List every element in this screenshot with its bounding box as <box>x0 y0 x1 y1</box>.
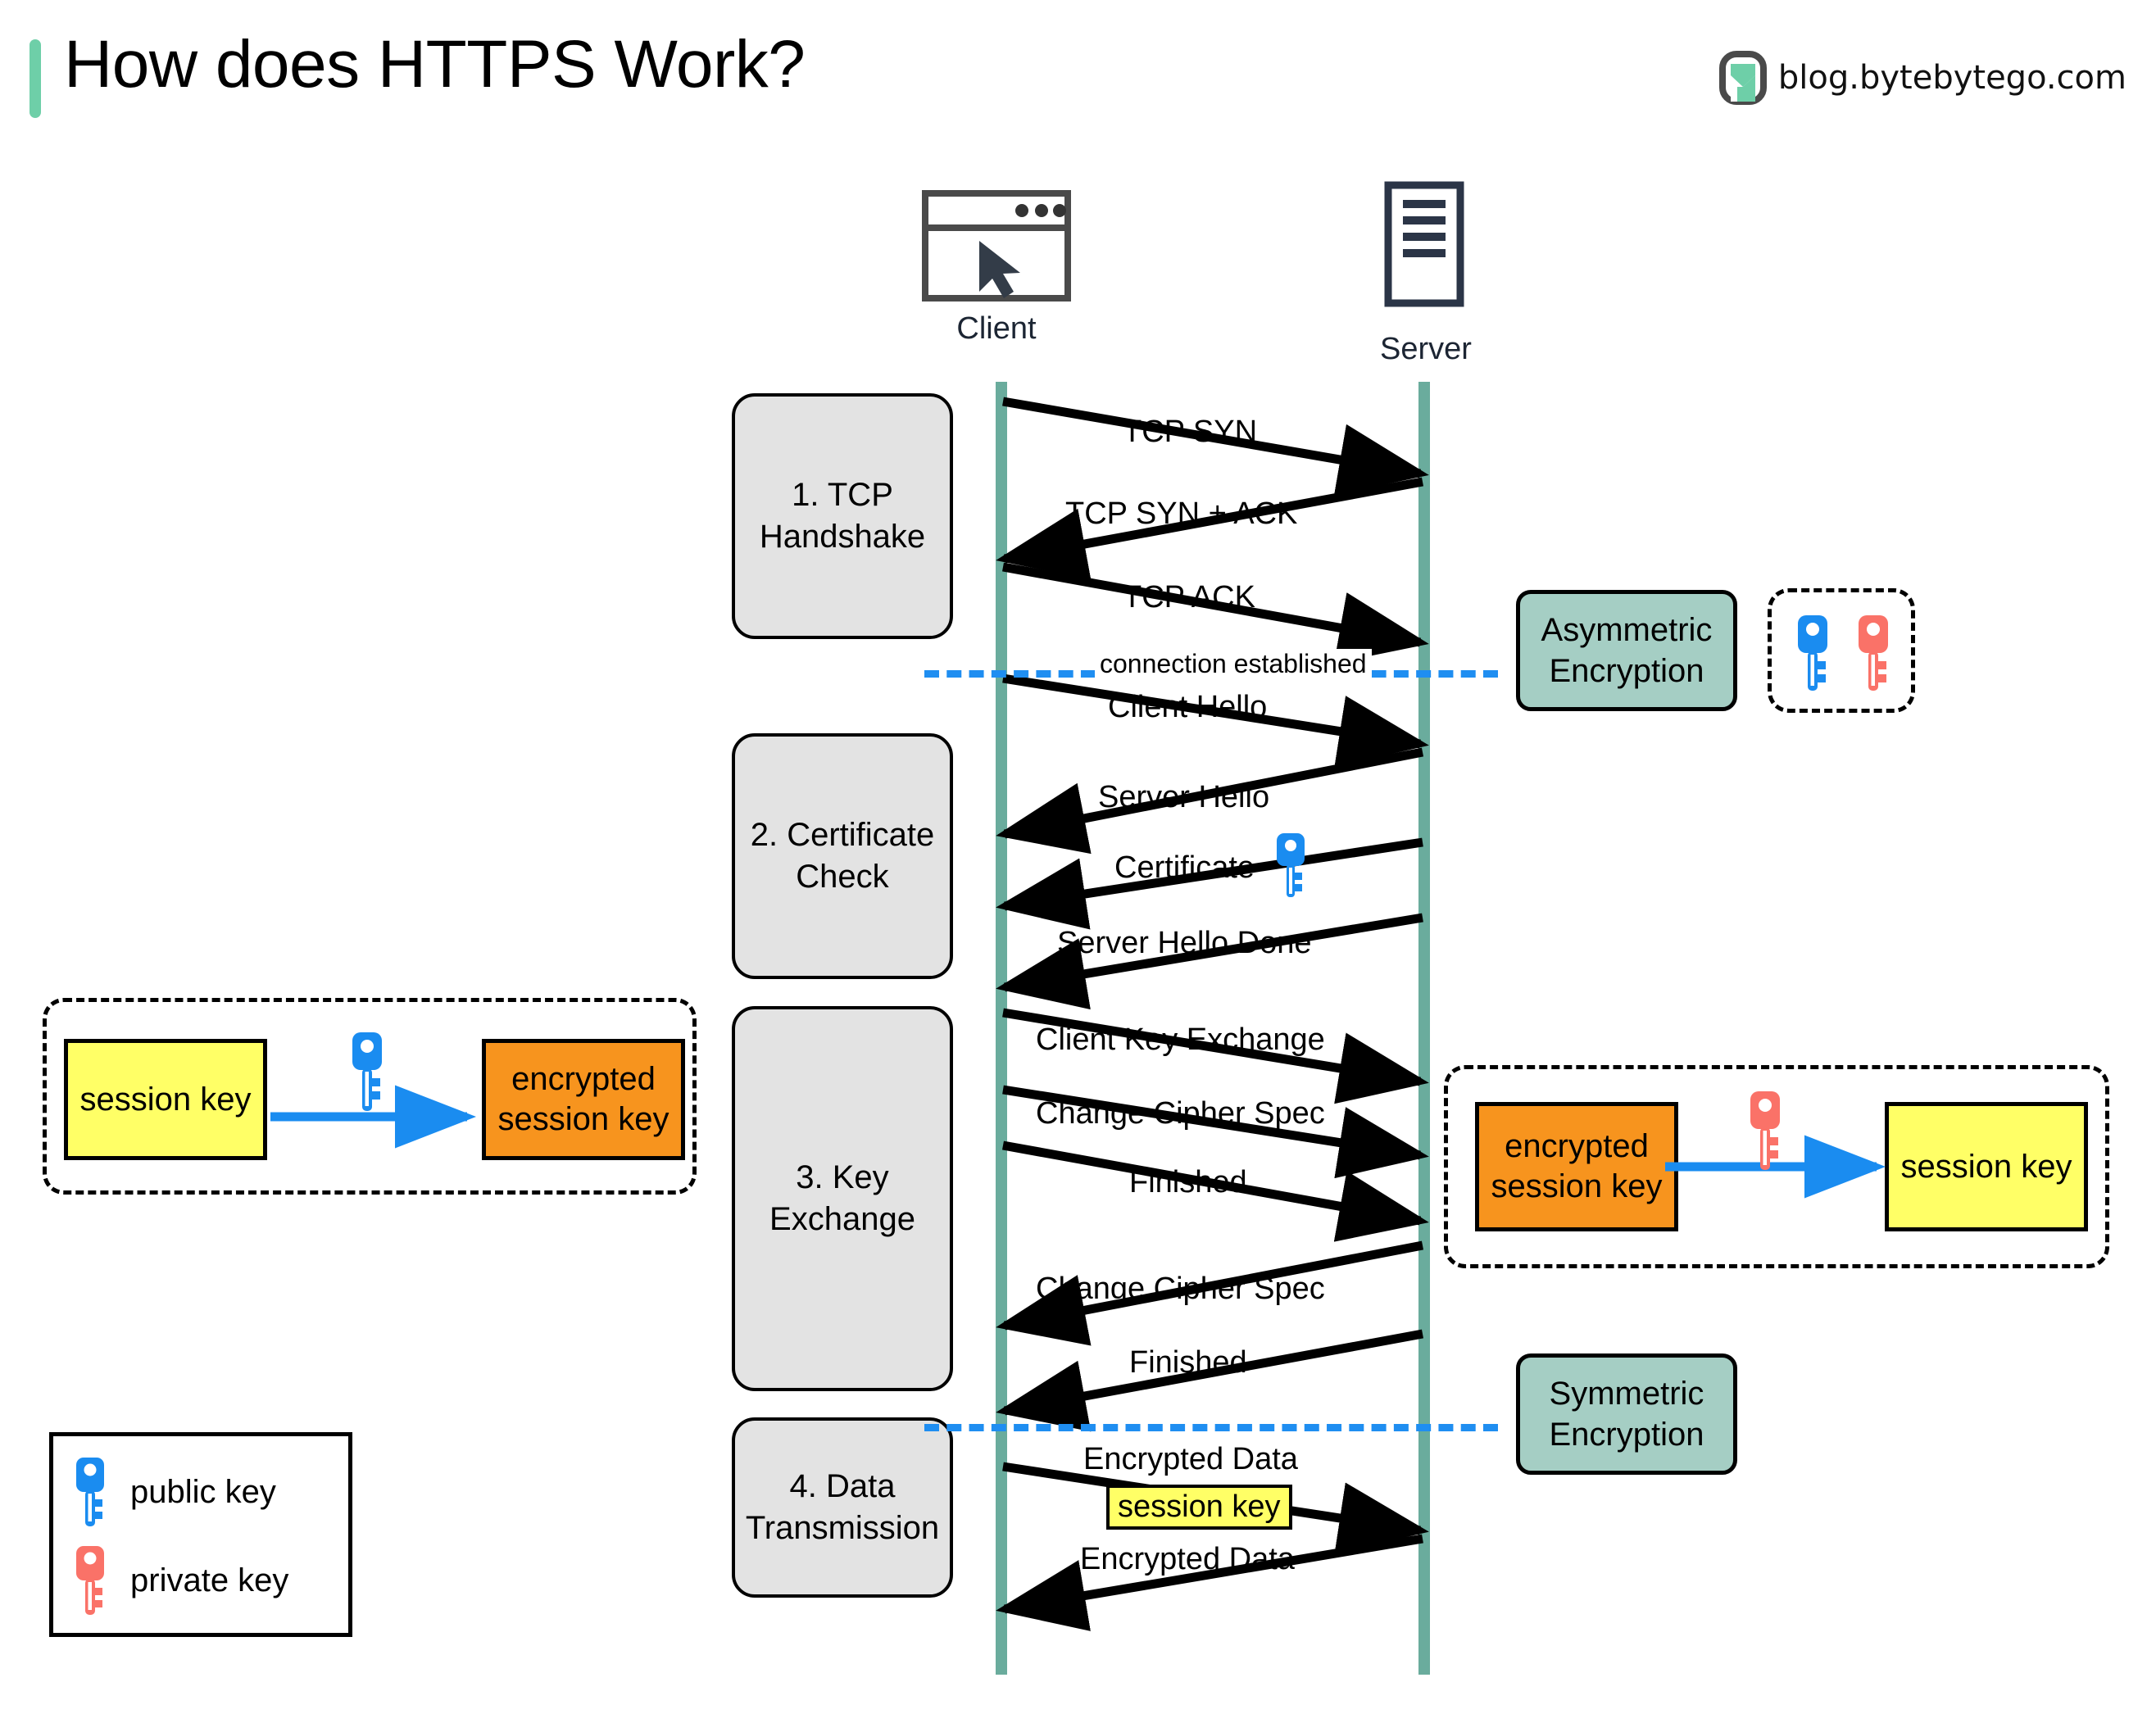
brand-text: blog.bytebytego.com <box>1778 59 2126 97</box>
symmetric-encryption-line2: Encryption <box>1550 1414 1704 1455</box>
message-label-certificate: Certificate <box>1114 850 1255 886</box>
stage-label-line1: 3. Key <box>769 1157 915 1199</box>
decrypt-flow-result-block: session key <box>1885 1102 2088 1231</box>
private-key-icon <box>1854 614 1893 692</box>
stage-box-certificate-check: 2. Certificate Check <box>732 733 953 979</box>
stage-label-line2: Transmission <box>746 1508 939 1549</box>
encrypt-flow-result-line1: encrypted <box>498 1059 669 1100</box>
legend-item-private-key: private key <box>53 1536 348 1625</box>
stage-box-data-transmission: 4. Data Transmission <box>732 1417 953 1598</box>
message-label-tcp-ack: TCP ACK <box>1123 580 1255 615</box>
decrypt-flow-source-block: encrypted session key <box>1475 1102 1678 1231</box>
message-label-encrypted-data-out: Encrypted Data <box>1083 1442 1298 1477</box>
separator-label-connection-established: connection established <box>1095 649 1372 679</box>
public-key-icon <box>347 1031 387 1113</box>
stage-label-line1: 1. TCP <box>760 474 925 516</box>
client-lifeline <box>996 382 1007 1675</box>
public-key-icon <box>1272 832 1309 899</box>
decrypt-flow-source-line1: encrypted <box>1491 1127 1663 1167</box>
stage-box-tcp-handshake: 1. TCP Handshake <box>732 393 953 639</box>
legend-item-public-key: public key <box>53 1448 348 1536</box>
asymmetric-encryption-box: Asymmetric Encryption <box>1516 590 1737 711</box>
bytebytego-logo-icon <box>1719 51 1767 105</box>
encrypt-flow-result-block: encrypted session key <box>482 1039 685 1160</box>
symmetric-encryption-line1: Symmetric <box>1550 1373 1704 1414</box>
private-key-icon <box>1745 1090 1785 1172</box>
message-label-client-key-exchange: Client Key Exchange <box>1036 1022 1325 1058</box>
message-label-server-hello-done: Server Hello Done <box>1057 926 1311 961</box>
message-label-tcp-syn: TCP SYN <box>1123 415 1257 450</box>
asymmetric-encryption-line1: Asymmetric <box>1541 610 1713 651</box>
legend: public key private key <box>49 1432 352 1637</box>
client-label: Client <box>922 311 1071 347</box>
decrypt-flow-source-line2: session key <box>1491 1167 1663 1207</box>
legend-label-public-key: public key <box>130 1474 276 1511</box>
stage-box-key-exchange: 3. Key Exchange <box>732 1006 953 1391</box>
message-label-tcp-syn-ack: TCP SYN + ACK <box>1065 496 1297 532</box>
message-label-client-hello: Client Hello <box>1108 690 1267 725</box>
message-label-change-cipher-spec-client: Change Cipher Spec <box>1036 1096 1325 1131</box>
encrypt-flow-result-line2: session key <box>498 1100 669 1140</box>
message-label-change-cipher-spec-server: Change Cipher Spec <box>1036 1272 1325 1307</box>
asymmetric-encryption-line2: Encryption <box>1541 651 1713 691</box>
server-rack-icon <box>1383 182 1465 306</box>
brand: blog.bytebytego.com <box>1719 51 2126 105</box>
legend-label-private-key: private key <box>130 1562 288 1599</box>
public-key-icon <box>1793 614 1832 692</box>
stage-label-line1: 4. Data <box>746 1466 939 1508</box>
server-lifeline <box>1418 382 1430 1675</box>
stage-label-line2: Check <box>751 856 935 898</box>
symmetric-encryption-box: Symmetric Encryption <box>1516 1353 1737 1475</box>
public-key-icon <box>73 1456 109 1528</box>
message-label-encrypted-data-in: Encrypted Data <box>1080 1542 1295 1577</box>
server-label: Server <box>1368 332 1483 367</box>
title-accent-bar <box>30 39 41 118</box>
browser-window-icon <box>922 190 1071 302</box>
message-label-finished-client: Finished <box>1129 1165 1247 1200</box>
message-label-session-key: session key <box>1106 1485 1292 1530</box>
private-key-icon <box>73 1544 109 1616</box>
message-label-finished-server: Finished <box>1129 1345 1247 1381</box>
stage-label-line2: Exchange <box>769 1199 915 1240</box>
diagram-canvas: How does HTTPS Work? blog.bytebytego.com… <box>0 0 2156 1723</box>
encrypt-flow-source-block: session key <box>64 1039 267 1160</box>
page-title: How does HTTPS Work? <box>64 26 805 103</box>
separator-symmetric <box>924 1424 1498 1431</box>
stage-label-line2: Handshake <box>760 516 925 558</box>
keypair-group <box>1768 588 1915 713</box>
stage-label-line1: 2. Certificate <box>751 814 935 856</box>
message-label-server-hello: Server Hello <box>1098 780 1269 815</box>
